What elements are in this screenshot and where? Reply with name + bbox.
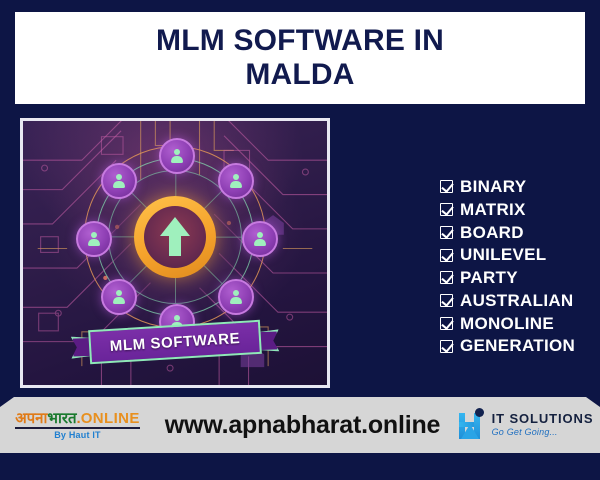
hub-inner bbox=[144, 206, 206, 268]
center-hub bbox=[134, 196, 216, 278]
user-node bbox=[159, 138, 195, 174]
monogram-dot bbox=[475, 408, 484, 417]
feature-label: MATRIX bbox=[460, 199, 526, 221]
user-avatar-icon bbox=[112, 174, 126, 188]
feature-item-monoline: MONOLINE bbox=[440, 313, 575, 335]
title-line-2: MALDA bbox=[245, 58, 354, 91]
ha-monogram-icon bbox=[457, 409, 487, 441]
illustration-panel: MLM SOFTWARE bbox=[20, 118, 330, 388]
checked-checkbox-icon bbox=[440, 317, 453, 330]
feature-label: MONOLINE bbox=[460, 313, 554, 335]
apnabharat-logo: अपनाभारत.ONLINE By Haut IT bbox=[15, 411, 140, 440]
user-avatar-icon bbox=[253, 232, 267, 246]
logo-hindi-apna: अपना bbox=[15, 410, 47, 427]
promo-poster: MLM SOFTWARE IN MALDA bbox=[0, 0, 600, 480]
partner-name: IT SOLUTIONS bbox=[492, 412, 594, 426]
user-node bbox=[242, 221, 278, 257]
checked-checkbox-icon bbox=[440, 271, 453, 284]
user-node bbox=[101, 279, 137, 315]
feature-label: BINARY bbox=[460, 176, 526, 198]
feature-item-binary: BINARY bbox=[440, 176, 575, 198]
feature-label: BOARD bbox=[460, 222, 524, 244]
checked-checkbox-icon bbox=[440, 249, 453, 262]
feature-label: UNILEVEL bbox=[460, 244, 546, 266]
feature-list: BINARY MATRIX BOARD UNILEVEL PARTY AUSTR… bbox=[440, 176, 575, 357]
checked-checkbox-icon bbox=[440, 180, 453, 193]
checked-checkbox-icon bbox=[440, 226, 453, 239]
footer-bar: अपनाभारत.ONLINE By Haut IT www.apnabhara… bbox=[0, 397, 600, 453]
user-avatar-icon bbox=[87, 232, 101, 246]
feature-label: GENERATION bbox=[460, 335, 575, 357]
feature-item-matrix: MATRIX bbox=[440, 199, 575, 221]
checked-checkbox-icon bbox=[440, 340, 453, 353]
user-node bbox=[76, 221, 112, 257]
feature-item-australian: AUSTRALIAN bbox=[440, 290, 575, 312]
feature-label: PARTY bbox=[460, 267, 518, 289]
website-url[interactable]: www.apnabharat.online bbox=[165, 411, 440, 440]
feature-item-unilevel: UNILEVEL bbox=[440, 244, 575, 266]
partner-text: IT SOLUTIONS Go Get Going... bbox=[492, 412, 594, 437]
user-avatar-icon bbox=[170, 149, 184, 163]
logo-online: ONLINE bbox=[81, 410, 140, 427]
network-ring bbox=[80, 142, 270, 332]
partner-logo[interactable]: IT SOLUTIONS Go Get Going... bbox=[450, 409, 600, 441]
user-node bbox=[101, 163, 137, 199]
website-url-container[interactable]: www.apnabharat.online bbox=[155, 411, 450, 440]
ribbon-banner: MLM SOFTWARE bbox=[70, 321, 279, 362]
apnabharat-wordmark: अपनाभारत.ONLINE bbox=[15, 411, 140, 429]
ribbon-label: MLM SOFTWARE bbox=[109, 330, 240, 355]
logo-hindi-bharat: भारत bbox=[47, 410, 76, 427]
monogram-triangle bbox=[461, 424, 479, 439]
checked-checkbox-icon bbox=[440, 294, 453, 307]
feature-item-party: PARTY bbox=[440, 267, 575, 289]
title-line-1: MLM SOFTWARE IN bbox=[156, 24, 444, 57]
user-avatar-icon bbox=[229, 174, 243, 188]
logo-byline: By Haut IT bbox=[15, 431, 140, 440]
feature-item-generation: GENERATION bbox=[440, 335, 575, 357]
feature-item-board: BOARD bbox=[440, 222, 575, 244]
feature-label: AUSTRALIAN bbox=[460, 290, 574, 312]
user-node bbox=[218, 163, 254, 199]
user-avatar-icon bbox=[229, 290, 243, 304]
page-title: MLM SOFTWARE IN MALDA bbox=[146, 24, 454, 91]
user-node bbox=[218, 279, 254, 315]
user-avatar-icon bbox=[112, 290, 126, 304]
brand-logo[interactable]: अपनाभारत.ONLINE By Haut IT bbox=[0, 411, 155, 440]
partner-tagline: Go Get Going... bbox=[492, 428, 594, 437]
checked-checkbox-icon bbox=[440, 203, 453, 216]
title-banner: MLM SOFTWARE IN MALDA bbox=[15, 12, 585, 104]
